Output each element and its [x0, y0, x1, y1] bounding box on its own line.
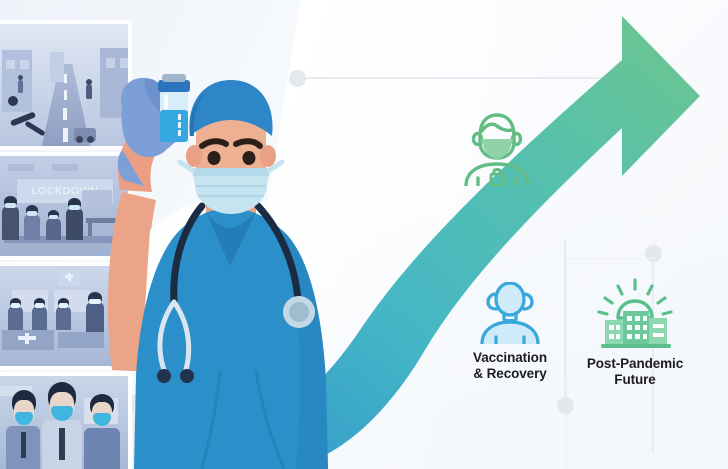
milestone-essential-worker[interactable]: [458, 106, 536, 192]
milestone-label-line2: Future: [578, 372, 692, 388]
city-sunrise-icon: [593, 278, 677, 350]
connector-dot-bottom-center: [557, 397, 574, 414]
milestone-label-line1: Post-Pandemic: [578, 356, 692, 372]
patient-with-headset-icon: [474, 282, 546, 344]
milestone-label-post-pandemic-future: Post-Pandemic Future: [578, 356, 692, 388]
milestone-label-line2: & Recovery: [452, 366, 568, 382]
doctor-holding-vaccine-vial: [60, 40, 390, 469]
milestone-vaccination-recovery[interactable]: Vaccination & Recovery: [452, 282, 568, 382]
infographic-canvas: LOCKDOWN: [0, 0, 728, 469]
milestone-label-line1: Vaccination: [452, 350, 568, 366]
vaccine-vial: [158, 74, 190, 142]
milestone-post-pandemic-future[interactable]: Post-Pandemic Future: [578, 278, 692, 388]
milestone-label-vaccination-recovery: Vaccination & Recovery: [452, 350, 568, 382]
masked-worker-icon: [458, 106, 536, 186]
